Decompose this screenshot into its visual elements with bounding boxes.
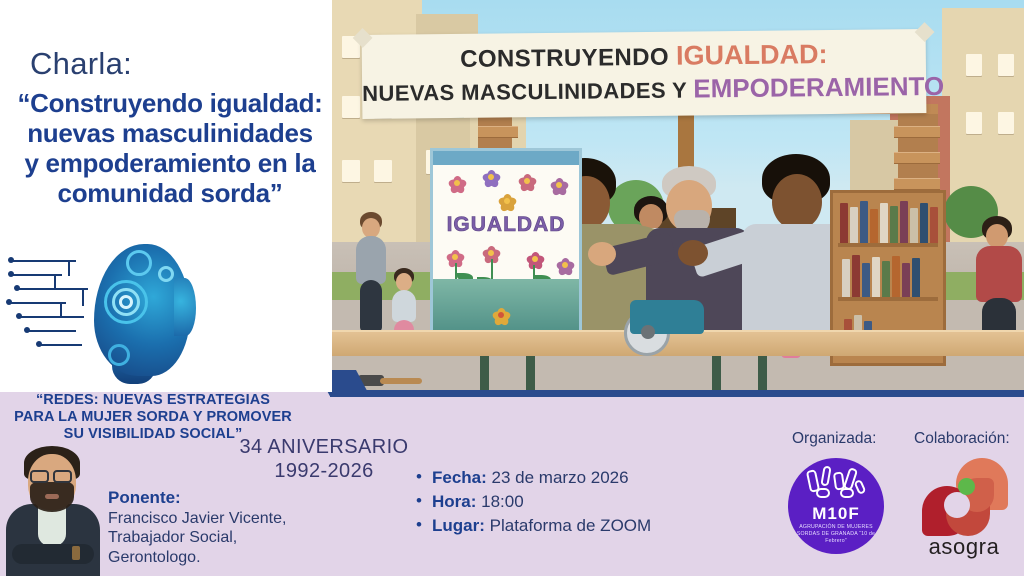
banner-line2-highlight: EMPODERAMIENTO	[693, 71, 944, 104]
m10f-wordmark: M10F	[788, 504, 884, 524]
page-title: “Construyendo igualdad: nuevas masculini…	[16, 88, 324, 209]
title-line-4: comunidad sorda”	[16, 178, 324, 208]
anniversary-line-1: 34 ANIVERSARIO	[236, 436, 412, 460]
detail-lugar-value: Plataforma de ZOOM	[490, 516, 652, 535]
banner-line2-conjunction: Y	[672, 78, 687, 103]
detail-hora-value: 18:00	[481, 492, 524, 511]
detail-hora-label: Hora:	[432, 492, 476, 511]
ponente-line-3: Gerontologo.	[108, 548, 328, 568]
asogra-logo: asogra	[916, 456, 1012, 556]
band-rule-right	[330, 390, 1024, 397]
event-poster: Charla: “Construyendo igualdad: nuevas m…	[0, 0, 1024, 576]
m10f-subtitle: AGRUPACIÓN DE MUJERES SORDAS DE GRANADA …	[792, 524, 880, 545]
title-line-3: y empoderamiento en la	[16, 148, 324, 178]
ponente-line-2: Trabajador Social,	[108, 528, 328, 548]
detail-fecha-label: Fecha:	[432, 468, 487, 487]
banner-line1-highlight: IGUALDAD:	[676, 39, 828, 71]
asogra-wordmark: asogra	[916, 534, 1012, 560]
redes-line-1: “REDES: NUEVAS ESTRATEGIAS	[12, 392, 294, 409]
mural-word: IGUALDAD	[433, 213, 579, 237]
ponente-line-1: Francisco Javier Vicente,	[108, 509, 328, 529]
kicker-charla: Charla:	[30, 46, 132, 82]
title-line-2: nuevas masculinidades	[16, 118, 324, 148]
detail-fecha: Fecha: 23 de marzo 2026	[416, 466, 746, 490]
anniversary-line-2: 1992-2026	[236, 460, 412, 484]
detail-lugar: Lugar: Plataforma de ZOOM	[416, 514, 746, 538]
igualdad-mural: IGUALDAD	[430, 148, 582, 338]
detail-lugar-label: Lugar:	[432, 516, 485, 535]
redes-line-2: PARA LA MUJER SORDA Y PROMOVER	[12, 409, 294, 426]
m10f-logo: M10F AGRUPACIÓN DE MUJERES SORDAS DE GRA…	[788, 458, 884, 554]
banner-line1-plain: CONSTRUYENDO	[460, 44, 669, 73]
left-column: Charla: “Construyendo igualdad: nuevas m…	[0, 0, 332, 392]
protest-banner: CONSTRUYENDO IGUALDAD: NUEVAS MASCULINID…	[362, 29, 927, 119]
event-details-list: Fecha: 23 de marzo 2026 Hora: 18:00 Luga…	[416, 466, 746, 538]
detail-fecha-value: 23 de marzo 2026	[492, 468, 629, 487]
ponente-label: Ponente:	[108, 488, 181, 507]
speaker-info: Ponente: Francisco Javier Vicente, Traba…	[108, 488, 328, 567]
organizada-label: Organizada:	[792, 430, 876, 448]
anniversary-text: 34 ANIVERSARIO 1992-2026	[236, 436, 412, 483]
colaboracion-label: Colaboración:	[914, 430, 1010, 448]
banner-line2-plain: NUEVAS MASCULINIDADES	[362, 78, 666, 106]
detail-hora: Hora: 18:00	[416, 490, 746, 514]
title-line-1: “Construyendo igualdad:	[16, 88, 324, 118]
ai-head-icon	[8, 240, 238, 380]
speaker-photo	[0, 442, 106, 576]
community-illustration: IGUALDAD	[330, 0, 1024, 392]
